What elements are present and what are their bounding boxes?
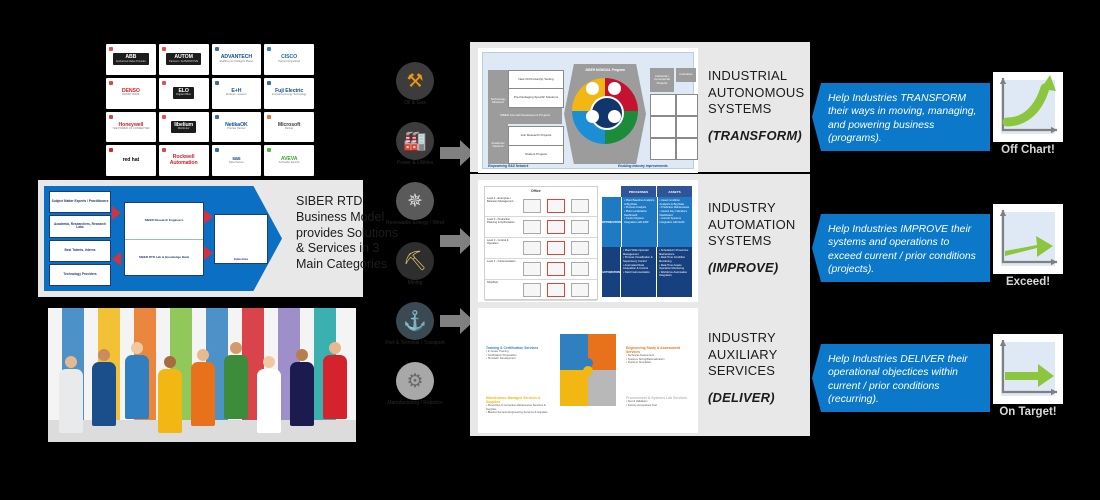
thumb2-level-row: Level 3 - Production Planning & Optimiza… <box>485 216 597 238</box>
thumb2-node <box>571 241 589 255</box>
thumb1-industry-card <box>676 94 698 116</box>
partner-logo: MicrosoftPartner <box>264 112 314 143</box>
thumb1-center-title: SIBER MONDIAL Program <box>570 68 640 72</box>
partner-logo-tagline: Partners / ALTERNATIVE <box>169 61 198 64</box>
red-chevron-icon <box>112 206 121 220</box>
thumbnail-industry-automation-systems[interactable]: OfficeLevel 4 - Enterprise / Business Ma… <box>478 180 698 305</box>
result-card-exceed: Exceed! <box>993 204 1063 274</box>
thumb2-node <box>571 220 589 234</box>
thumb3-quadrant-item: • Systems Simulation <box>626 361 690 365</box>
thumb1-box: SIBER Internal Development Projects <box>488 108 562 124</box>
callout-improve: Help Industries IMPROVE their systems an… <box>812 214 990 282</box>
thumb2-bullet: • Workforce Automation Integration <box>659 271 690 278</box>
siber-business-model-panel: Subject Matter Experts / Practitioners A… <box>38 180 363 297</box>
result-label: On Target! <box>993 406 1063 418</box>
port-terminal-icon: ⚓ <box>396 302 434 340</box>
thumb2-cell: • Plant Wide Operator Management• Proces… <box>620 247 656 297</box>
curved-up-arrow-icon <box>993 72 1063 142</box>
workforce-photo <box>48 308 356 442</box>
partner-logo-tagline: Distributor <box>174 128 193 131</box>
thumb1-industry-card <box>676 138 698 160</box>
partner-logo-mark <box>162 148 166 152</box>
photo-person <box>124 342 150 442</box>
thumb3-quadrant: Maintenance Managed Services & Supplies•… <box>486 396 550 415</box>
result-card-off-chart: Off Chart! <box>993 72 1063 142</box>
thumb2-level-diagram: OfficeLevel 4 - Enterprise / Business Ma… <box>484 186 598 300</box>
red-chevron-icon <box>204 210 213 224</box>
thumb2-left-title: Office <box>531 189 541 193</box>
partner-logo: NetikaOKPremier Partner <box>212 112 262 143</box>
partner-logo-mark <box>215 47 219 51</box>
thumb1-box: Pre-Packaging Specific Solutions <box>508 88 564 108</box>
thumb3-quadrant: Training & Certification Services• In-ho… <box>486 346 550 361</box>
category-title-line: SYSTEMS <box>708 101 808 118</box>
rail-item-label: Power & Utilities <box>384 161 446 167</box>
partner-logo: ADVANTECHEnabling an Intelligent Planet <box>212 44 262 75</box>
thumb2-node <box>547 283 565 297</box>
photo-person <box>223 342 249 442</box>
thumb2-level-row: Level 4 - Enterprise / Business Manageme… <box>485 195 597 217</box>
thumb2-bullet: • Real-Time Condition Monitoring <box>659 256 690 263</box>
rail-item-wind-turbine[interactable]: ✵Renewable Energy / Wind <box>384 182 446 227</box>
thumb2-node <box>571 262 589 276</box>
partner-logo-tagline: Schneider Electric <box>279 162 300 165</box>
partner-logo: Fuji ElectricInnovating Energy Technolog… <box>264 78 314 109</box>
thumb2-bullet: • Control Systems Integration with EAM <box>660 217 690 224</box>
thumb2-node <box>523 220 541 234</box>
partner-logo-tagline: Authorized Value Provider <box>116 61 146 64</box>
thumb2-level-label: Level 3 - Production Planning & Optimiza… <box>487 218 517 224</box>
partner-logo-mark <box>267 115 271 119</box>
thumb2-level-row: Level 1 - Instrumentation <box>485 258 597 280</box>
category-title-line: SYSTEMS <box>708 233 808 250</box>
rising-arrow-icon <box>993 204 1063 274</box>
partner-logo-mark <box>109 148 113 152</box>
thumb2-level-label: Level 2 - Control & Operation <box>487 239 517 245</box>
thumb2-column-header: PROCESSES <box>620 186 656 197</box>
thumb2-bullet: • Real-Time Assets Operation Monitoring <box>659 264 690 271</box>
thumb2-table-header: PROCESSESASSETS <box>602 186 692 197</box>
thumb2-level-row: Shopfloor <box>485 279 597 301</box>
thumb1-pie-badge <box>608 82 621 95</box>
partner-logo-tagline: Partner Registered <box>278 61 300 64</box>
photo-person <box>190 349 216 442</box>
thumb1-right-label: Industrial / Commercial Projects <box>650 68 674 92</box>
rail-item-port-terminal[interactable]: ⚓Port & Terminal / Transport <box>384 302 446 347</box>
wind-turbine-icon: ✵ <box>396 182 434 220</box>
thumb2-node <box>523 283 541 297</box>
thumb2-node <box>523 262 541 276</box>
partner-logo-mark <box>109 81 113 85</box>
thumb2-bullet: • Field Instrumentation <box>623 271 654 275</box>
category-title-2: INDUSTRY AUTOMATION SYSTEMS (IMPROVE) <box>708 200 808 277</box>
partner-logo: E+HEndress + Hauser <box>212 78 262 109</box>
thumb2-column-header: ASSETS <box>656 186 692 197</box>
siber-output-box: Industries <box>214 214 268 264</box>
thumb1-project-card <box>650 94 676 116</box>
category-title-line: SERVICES <box>708 363 808 380</box>
thumb3-quadrant-item: • Simulator Development <box>486 357 550 361</box>
thumbnail-industrial-autonomous-systems[interactable]: Technology MissionsNew-Of-Product(s) Tes… <box>478 48 698 173</box>
category-title-line: INDUSTRY <box>708 200 808 217</box>
partner-logo-mark <box>267 148 271 152</box>
thumb2-cell: • Plant Baseline Analytics & Big Data• P… <box>621 197 656 247</box>
category-title-3: INDUSTRY AUXILIARY SERVICES (DELIVER) <box>708 330 808 407</box>
manufacturing-robot-icon: ⚙ <box>396 362 434 400</box>
partner-logo-tagline: Premier Partner <box>225 128 248 131</box>
result-card-on-target: On Target! <box>993 334 1063 404</box>
thumb2-node <box>571 199 589 213</box>
thumb1-project-card <box>650 138 676 160</box>
partner-logo-mark <box>267 81 271 85</box>
partner-logo-tagline: DENSO WAVE <box>122 94 140 97</box>
partner-logo-tagline: Endress + Hauser <box>226 94 247 97</box>
thumb3-puzzle-knob <box>583 366 593 376</box>
flat-arrow-icon <box>993 334 1063 404</box>
partner-logo-mark <box>162 47 166 51</box>
thumb3-quadrant-title: Maintenance Managed Services & Supplies <box>486 396 550 404</box>
category-title-line: AUTOMATION <box>708 217 808 234</box>
thumb2-cell: • Scheduled / Preventive Maintenance• Re… <box>656 247 692 297</box>
arrow-to-category-1 <box>440 140 474 166</box>
oil-rig-icon: ⚒ <box>396 62 434 100</box>
rail-item-power-plant[interactable]: 🏭Power & Utilities <box>384 122 446 167</box>
partner-logo: Rockwell Automation <box>159 145 209 176</box>
siber-input-column: Subject Matter Experts / Practitioners A… <box>49 191 111 286</box>
partner-logo-tagline: Data Partner <box>229 162 244 165</box>
thumb3-quadrant-title: Engineering Study & Assessment Services <box>626 346 690 354</box>
category-title-1: INDUSTRIAL AUTONOMOUS SYSTEMS (TRANSFORM… <box>708 68 808 145</box>
partner-logo-mark <box>215 148 219 152</box>
partner-logo: AVEVASchneider Electric <box>264 145 314 176</box>
thumb1-box: New-Of-Product(s) Testing <box>508 70 564 89</box>
partner-logo-tagline: Innovating Energy Technology <box>272 94 307 97</box>
photo-person <box>91 349 117 442</box>
result-label: Exceed! <box>993 276 1063 288</box>
red-chevron-icon <box>204 246 213 260</box>
partner-logo-name: Rockwell Automation <box>170 154 198 165</box>
thumb3-puzzle-piece <box>560 370 588 406</box>
thumb2-level-row: Level 2 - Control & Operation <box>485 237 597 259</box>
thumb1-box: Join Research Projects <box>508 126 564 146</box>
partner-logo-mark <box>267 47 271 51</box>
thumb2-table-row: OPTIMIZATION• Plant Baseline Analytics &… <box>602 197 692 247</box>
thumb1-right-label: Industries <box>676 68 696 82</box>
red-chevron-icon <box>112 252 121 266</box>
siber-input-box: Academia, Researchers, Research Labs <box>49 215 111 237</box>
thumb1-industry-card <box>676 116 698 138</box>
category-title-line: INDUSTRY <box>708 330 808 347</box>
partner-logo: sasData Partner <box>212 145 262 176</box>
thumb2-node <box>547 220 565 234</box>
result-label: Off Chart! <box>993 144 1063 156</box>
thumb2-bullet: • Process Visualization & Supervisory Co… <box>623 256 654 263</box>
rail-item-oil-rig[interactable]: ⚒Oil & Gas <box>384 62 446 107</box>
partner-logo-mark <box>215 115 219 119</box>
partner-logo: HoneywellTHE POWER OF CONNECTED <box>106 112 156 143</box>
photo-person <box>256 356 282 442</box>
thumb2-level-label: Level 4 - Enterprise / Business Manageme… <box>487 197 517 203</box>
thumb2-bullet: • Automated Data Acquisition & Control <box>623 264 654 271</box>
siber-core-top: SIBER Research Engineers <box>125 203 203 240</box>
thumb2-level-label: Level 1 - Instrumentation <box>487 260 517 263</box>
callout-deliver: Help Industries DELIVER their operationa… <box>812 344 990 412</box>
partner-logo-mark <box>162 81 166 85</box>
partner-logo-mark <box>162 115 166 119</box>
siber-core-bottom: SIBER RTD Lab & Knowledge Bank <box>125 240 203 276</box>
thumb1-group-label: Academic Network <box>488 126 508 164</box>
thumb2-level-label: Shopfloor <box>487 281 517 284</box>
partner-logo-tagline: Enabling an Intelligent Planet <box>220 61 254 64</box>
rail-item-label: Manufacturing / Robotics <box>384 401 446 407</box>
partner-logo: libeliumDistributor <box>159 112 209 143</box>
thumb2-cell: • Asset Condition Analytics & Big Data• … <box>657 197 692 247</box>
partner-logo: ABBAuthorized Value Provider <box>106 44 156 75</box>
rail-item-label: Port & Terminal / Transport <box>384 341 446 347</box>
power-plant-icon: 🏭 <box>396 122 434 160</box>
partner-logo-mark <box>215 81 219 85</box>
thumb3-puzzle-knob <box>596 360 606 370</box>
photo-person <box>157 356 183 442</box>
thumb2-node <box>547 241 565 255</box>
rail-item-mining[interactable]: ⛏Mining <box>384 242 446 287</box>
mining-icon: ⛏ <box>396 242 434 280</box>
thumb2-row-label: OPTIMIZATION <box>602 197 621 247</box>
rail-item-label: Mining <box>384 281 446 287</box>
partner-logo: CISCOPartner Registered <box>264 44 314 75</box>
thumb3-quadrant: Engineering Study & Assessment Services•… <box>626 346 690 365</box>
rail-item-label: Oil & Gas <box>384 101 446 107</box>
partner-logo-mark <box>109 47 113 51</box>
thumb3-quadrant: Procurement & Systems Lab Services• Test… <box>626 396 690 407</box>
partner-logo-grid: ABBAuthorized Value ProviderAUTOMPartner… <box>106 44 314 176</box>
partner-logo-tagline: THE POWER OF CONNECTED <box>112 128 149 131</box>
category-title-line: AUXILIARY <box>708 347 808 364</box>
thumb2-matrix-table: PROCESSESASSETSOPTIMIZATION• Plant Basel… <box>602 186 692 298</box>
callout-transform: Help Industries TRANSFORM their ways in … <box>812 83 990 151</box>
thumb2-bullet: • Control System Integration with ERP <box>624 217 654 224</box>
siber-core-box: SIBER Research Engineers SIBER RTD Lab &… <box>124 202 204 276</box>
siber-input-box: Subject Matter Experts / Practitioners <box>49 191 111 213</box>
category-title-line: AUTONOMOUS <box>708 85 808 102</box>
thumb2-node <box>571 283 589 297</box>
thumb1-pie-badge <box>608 110 621 123</box>
siber-input-box: Technology Providers <box>49 264 111 286</box>
category-title-line: INDUSTRIAL <box>708 68 808 85</box>
thumb2-table-row: AUTOMATION• Plant Wide Operator Manageme… <box>602 247 692 297</box>
thumb3-quadrant-item: • Factory Acceptance Test <box>626 404 690 408</box>
partner-logo: AUTOMPartners / ALTERNATIVE <box>159 44 209 75</box>
thumb1-footer-right: Enabling Industry Improvements <box>618 164 668 168</box>
partner-logo: ELODigital Office <box>159 78 209 109</box>
thumbnail-industry-auxiliary-services[interactable]: Training & Certification Services• In-ho… <box>478 308 698 433</box>
arrow-to-category-2 <box>440 228 474 254</box>
thumb1-pie-badge <box>586 110 599 123</box>
siber-input-box: Best Talents, Interns <box>49 240 111 262</box>
partner-logo-tagline: Partner <box>278 128 300 131</box>
arrow-to-category-3 <box>440 308 474 334</box>
thumb1-box: Student Projects <box>508 145 564 164</box>
thumb3-puzzle-piece <box>588 370 616 406</box>
thumb2-node <box>523 199 541 213</box>
photo-person <box>322 342 348 442</box>
photo-person <box>58 356 84 442</box>
partner-logo-tagline: Digital Office <box>176 94 191 97</box>
category-subtitle: (TRANSFORM) <box>708 128 808 145</box>
thumb1-pie-badge <box>586 82 599 95</box>
category-subtitle: (IMPROVE) <box>708 260 808 277</box>
thumb2-row-label: AUTOMATION <box>602 247 620 297</box>
thumb2-node <box>547 199 565 213</box>
thumb3-quadrant-item: • Blanket Services Engineering Services … <box>486 411 550 415</box>
thumb1-project-card <box>650 116 676 138</box>
thumb1-footer-left: Empowering R&D Network <box>488 164 528 168</box>
thumb2-node <box>523 241 541 255</box>
thumb2-corner <box>602 186 620 197</box>
partner-logo-mark <box>109 115 113 119</box>
rail-item-label: Renewable Energy / Wind <box>384 221 446 227</box>
thumb2-node <box>547 262 565 276</box>
partner-logo: DENSODENSO WAVE <box>106 78 156 109</box>
partner-logo-name: red hat <box>123 157 140 163</box>
photo-person <box>289 349 315 442</box>
rail-item-manufacturing-robot[interactable]: ⚙Manufacturing / Robotics <box>384 362 446 407</box>
siber-model-diagram: Subject Matter Experts / Practitioners A… <box>44 186 282 291</box>
partner-logo: red hat <box>106 145 156 176</box>
category-subtitle: (DELIVER) <box>708 390 808 407</box>
